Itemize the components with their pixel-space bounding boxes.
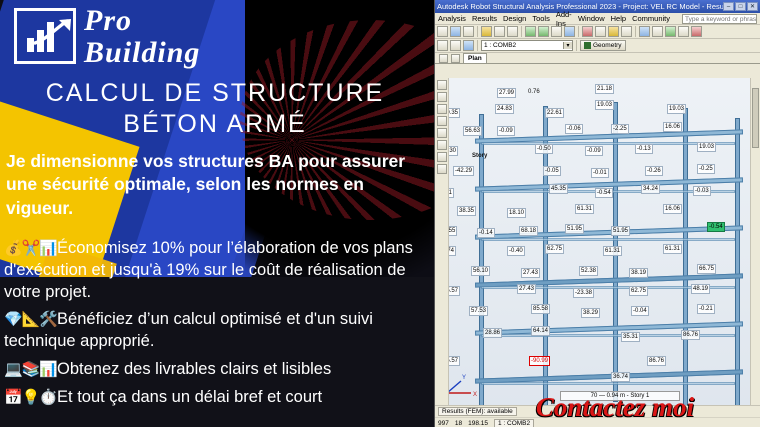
snap-settings-icon[interactable]	[652, 26, 663, 37]
result-value: 45.35	[549, 184, 568, 194]
result-value: 48.19	[691, 284, 710, 294]
grid-icon[interactable]	[678, 26, 689, 37]
menu-item-analysis[interactable]: Analysis	[438, 14, 466, 23]
menu-item-results[interactable]: Results	[472, 14, 497, 23]
maps-icon[interactable]	[621, 26, 632, 37]
tab-scroll-right-icon[interactable]	[451, 54, 460, 63]
result-value: 22.61	[545, 108, 564, 118]
menu-bar: Analysis Results Design Tools Add-Ins Wi…	[435, 13, 760, 25]
result-value: 19.03	[697, 142, 716, 152]
main-toolbar	[435, 25, 760, 39]
menu-item-addins[interactable]: Add-Ins	[556, 10, 572, 28]
logo: Pro Building	[14, 6, 274, 68]
result-value: 34.24	[641, 184, 660, 194]
result-value: 35.31	[621, 332, 640, 342]
menu-item-community[interactable]: Community	[632, 14, 670, 23]
robot-structural-analysis-window: Autodesk Robot Structural Analysis Profe…	[434, 0, 760, 427]
result-value: 62.75	[629, 286, 648, 296]
menu-item-tools[interactable]: Tools	[532, 14, 550, 23]
result-value: 51.95	[611, 226, 630, 236]
display-options-icon[interactable]	[639, 26, 650, 37]
scrollbar-thumb[interactable]	[752, 88, 759, 148]
menu-item-window[interactable]: Window	[578, 14, 605, 23]
result-value: 52.38	[579, 266, 598, 276]
bullet-emoji-0: 💰✂️📊	[4, 240, 57, 257]
tab-scroll-left-icon[interactable]	[439, 54, 448, 63]
section-tool-icon[interactable]	[437, 164, 447, 174]
bullet-text-3: Et tout ça dans un délai bref et court	[57, 388, 322, 406]
result-value: 19.03	[595, 100, 614, 110]
menu-item-help[interactable]: Help	[611, 14, 626, 23]
result-value: -0.13	[635, 144, 653, 154]
result-value: 27.99	[497, 88, 516, 98]
result-value: 68.18	[519, 226, 538, 236]
logo-text: Pro Building	[84, 6, 200, 68]
list-item: 💎📐🛠️Bénéficiez d’un calcul optimisé et d…	[4, 309, 432, 353]
result-value: 27.43	[521, 268, 540, 278]
result-value: -0.50	[535, 144, 553, 154]
bullet-text-0: Économisez 10% pour l’élaboration de vos…	[4, 239, 413, 301]
result-value: 27.43	[517, 284, 536, 294]
load-tool-icon[interactable]	[437, 140, 447, 150]
window-title: Autodesk Robot Structural Analysis Profe…	[437, 2, 723, 11]
undo-icon[interactable]	[494, 26, 505, 37]
search-input[interactable]: Type a keyword or phrase	[682, 14, 757, 24]
result-value: -0.54	[595, 188, 613, 198]
svg-text:Y: Y	[462, 375, 466, 381]
result-value: 56.63	[463, 126, 482, 136]
result-value: -23.38	[573, 288, 594, 298]
viewport-scrollbar[interactable]	[750, 78, 760, 405]
result-value: 64.14	[531, 326, 550, 336]
result-value: -0.40	[507, 246, 525, 256]
view-tabs: Plan	[435, 53, 760, 64]
view-front-icon[interactable]	[437, 40, 448, 51]
window-controls: – □ ✕	[723, 2, 758, 11]
result-value: -0.26	[645, 166, 663, 176]
bullet-text-2: Obtenez des livrables clairs et lisibles	[57, 360, 331, 378]
save-icon[interactable]	[463, 26, 474, 37]
chevron-down-icon[interactable]: ▾	[563, 42, 572, 49]
list-item: 💰✂️📊Économisez 10% pour l’élaboration de…	[4, 238, 432, 303]
subheadline: Je dimensionne vos structures BA pour as…	[6, 150, 426, 220]
result-value: 16.06	[663, 204, 682, 214]
new-file-icon[interactable]	[437, 26, 448, 37]
logo-brand-line2: Building	[84, 38, 200, 68]
result-value: 66.75	[697, 264, 716, 274]
model-viewport[interactable]: 27.99 0.76 21.18 10.35 24.83 22.61 19.03…	[435, 78, 760, 405]
menu-item-design[interactable]: Design	[503, 14, 526, 23]
bullet-emoji-1: 💎📐🛠️	[4, 311, 57, 328]
zoom-out-icon[interactable]	[538, 26, 549, 37]
dimension-tool-icon[interactable]	[437, 152, 447, 162]
close-button[interactable]: ✕	[747, 2, 758, 11]
result-value: 61.31	[663, 244, 682, 254]
load-case-combo[interactable]: 1 : COMB2 ▾	[481, 40, 573, 51]
result-value: -0.21	[697, 304, 715, 314]
result-value: -0.14	[477, 228, 495, 238]
diagrams-icon[interactable]	[608, 26, 619, 37]
result-value: 0.76	[527, 88, 541, 96]
maximize-button[interactable]: □	[735, 2, 746, 11]
geometry-button-label: Geometry	[593, 42, 622, 49]
load-case-value: 1 : COMB2	[484, 42, 516, 49]
story-label: Story	[471, 152, 488, 160]
result-value: 61.31	[603, 246, 622, 256]
list-item: 📅💡⏱️Et tout ça dans un délai bref et cou…	[4, 387, 432, 409]
result-value: 86.76	[681, 330, 700, 340]
result-value: -2.25	[611, 124, 629, 134]
status-coord-x: 997	[438, 420, 449, 427]
result-value: -0.05	[543, 166, 561, 176]
bullet-text-1: Bénéficiez d’un calcul optimisé et d'un …	[4, 310, 373, 350]
result-value: -42.29	[453, 166, 474, 176]
result-value: 85.58	[531, 304, 550, 314]
list-item: 💻📚📊Obtenez des livrables clairs et lisib…	[4, 359, 432, 381]
selection-icon[interactable]	[691, 26, 702, 37]
panel-tool-icon[interactable]	[437, 116, 447, 126]
geometry-icon	[584, 42, 591, 49]
result-value: 62.75	[545, 244, 564, 254]
rotate-view-icon[interactable]	[564, 26, 575, 37]
result-value: 18.10	[507, 208, 526, 218]
screenshot-root: Pro Building CALCUL DE STRUCTURE BÉTON A…	[0, 0, 760, 427]
secondary-toolbar: 1 : COMB2 ▾ Geometry	[435, 39, 760, 53]
cta-text: Contactez moi	[470, 392, 760, 423]
result-value: 38.29	[581, 308, 600, 318]
select-tool-icon[interactable]	[437, 80, 447, 90]
bullet-emoji-2: 💻📚📊	[4, 361, 57, 378]
open-file-icon[interactable]	[450, 26, 461, 37]
page-title: CALCUL DE STRUCTURE BÉTON ARMÉ	[0, 78, 430, 141]
result-value: -0.06	[565, 124, 583, 134]
view-top-icon[interactable]	[450, 40, 461, 51]
left-toolbar-rail	[435, 78, 449, 405]
result-value: 86.76	[647, 356, 666, 366]
headline-line-1: CALCUL DE STRUCTURE	[0, 78, 430, 109]
logo-frame	[14, 8, 76, 64]
result-value-highlighted: -0.54	[707, 222, 725, 232]
result-value: -0.03	[693, 186, 711, 196]
result-value: 61.31	[575, 204, 594, 214]
view-3d-icon[interactable]	[463, 40, 474, 51]
zoom-in-icon[interactable]	[525, 26, 536, 37]
bullet-emoji-3: 📅💡⏱️	[4, 389, 57, 406]
result-value-negative: -90.99	[529, 356, 550, 366]
status-coord-y: 18	[455, 420, 462, 427]
result-value: 51.95	[565, 224, 584, 234]
result-value: -0.01	[591, 168, 609, 178]
window-titlebar: Autodesk Robot Structural Analysis Profe…	[435, 0, 760, 13]
result-value: 28.86	[483, 328, 502, 338]
result-value: 38.19	[629, 268, 648, 278]
result-value: -0.25	[697, 164, 715, 174]
node-tool-icon[interactable]	[437, 92, 447, 102]
headline-line-2: BÉTON ARMÉ	[0, 109, 430, 140]
result-value: 56.10	[471, 266, 490, 276]
bar-tool-icon[interactable]	[437, 104, 447, 114]
result-value: 19.03	[667, 104, 686, 114]
calculations-icon[interactable]	[582, 26, 593, 37]
layers-icon[interactable]	[665, 26, 676, 37]
result-value: 57.53	[469, 306, 488, 316]
tab-plan[interactable]: Plan	[463, 53, 487, 63]
result-value: 36.74	[611, 372, 630, 382]
result-value: 24.83	[495, 104, 514, 114]
growth-arrow-icon	[33, 17, 77, 47]
result-value: 21.18	[595, 84, 614, 94]
pan-icon[interactable]	[551, 26, 562, 37]
support-tool-icon[interactable]	[437, 128, 447, 138]
result-value: -0.04	[631, 306, 649, 316]
result-value: 16.06	[663, 122, 682, 132]
minimize-button[interactable]: –	[723, 2, 734, 11]
geometry-button[interactable]: Geometry	[580, 40, 626, 51]
results-table-icon[interactable]	[595, 26, 606, 37]
print-icon[interactable]	[481, 26, 492, 37]
redo-icon[interactable]	[507, 26, 518, 37]
benefits-list: 💰✂️📊Économisez 10% pour l’élaboration de…	[4, 238, 432, 414]
result-value: -0.09	[585, 146, 603, 156]
result-value: -0.09	[497, 126, 515, 136]
logo-brand-line1: Pro	[84, 6, 200, 36]
result-value: 38.35	[457, 206, 476, 216]
